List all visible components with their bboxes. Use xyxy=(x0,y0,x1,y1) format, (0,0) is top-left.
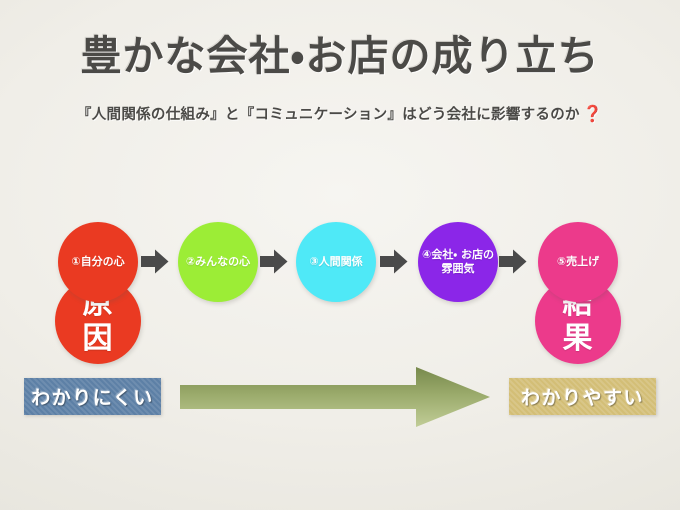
flow-step-4[interactable]: ④会社・ お店の雰囲気 xyxy=(418,222,498,302)
flow-step-5-label: ⑤売上げ xyxy=(557,255,599,269)
arrow-right-icon xyxy=(499,248,527,275)
cause-label-line2: 因 xyxy=(83,321,114,356)
flow-step-1[interactable]: ①自分の心 xyxy=(58,222,138,302)
page-subtitle: 『人間関係の仕組み』と『コミュニケーション』はどう会社に影響するのか❓ xyxy=(0,103,680,124)
page-title: 豊かな会社・お店の成り立ち xyxy=(0,22,680,82)
flow-step-2-label: ②みんなの心 xyxy=(186,255,250,269)
subtitle-text: 『人間関係の仕組み』と『コミュニケーション』はどう会社に影響するのか xyxy=(77,107,580,123)
arrow-right-icon xyxy=(141,248,169,275)
scale-right-label: わかりやすい xyxy=(509,378,656,415)
scale-left-label: わかりにくい xyxy=(24,378,161,415)
scale-right-text: わかりやすい xyxy=(521,383,644,410)
flow-step-3[interactable]: ③人間関係 xyxy=(296,222,376,302)
arrow-right-icon xyxy=(260,248,288,275)
result-label-line2: 果 xyxy=(563,321,594,356)
flow-step-3-label: ③人間関係 xyxy=(309,255,362,269)
scale-left-text: わかりにくい xyxy=(31,383,154,410)
big-arrow-right-icon xyxy=(178,366,493,428)
question-mark-icon: ❓ xyxy=(580,104,603,123)
flow-step-1-label: ①自分の心 xyxy=(71,255,124,269)
flow-step-4-label: ④会社・ お店の雰囲気 xyxy=(418,248,498,276)
arrow-right-icon xyxy=(380,248,408,275)
slide-canvas: 豊かな会社・お店の成り立ち 『人間関係の仕組み』と『コミュニケーション』はどう会… xyxy=(0,0,680,510)
flow-step-4-label-line1: ④会社・ xyxy=(422,248,457,261)
flow-step-2[interactable]: ②みんなの心 xyxy=(178,222,258,302)
flow-step-5[interactable]: ⑤売上げ xyxy=(538,222,618,302)
